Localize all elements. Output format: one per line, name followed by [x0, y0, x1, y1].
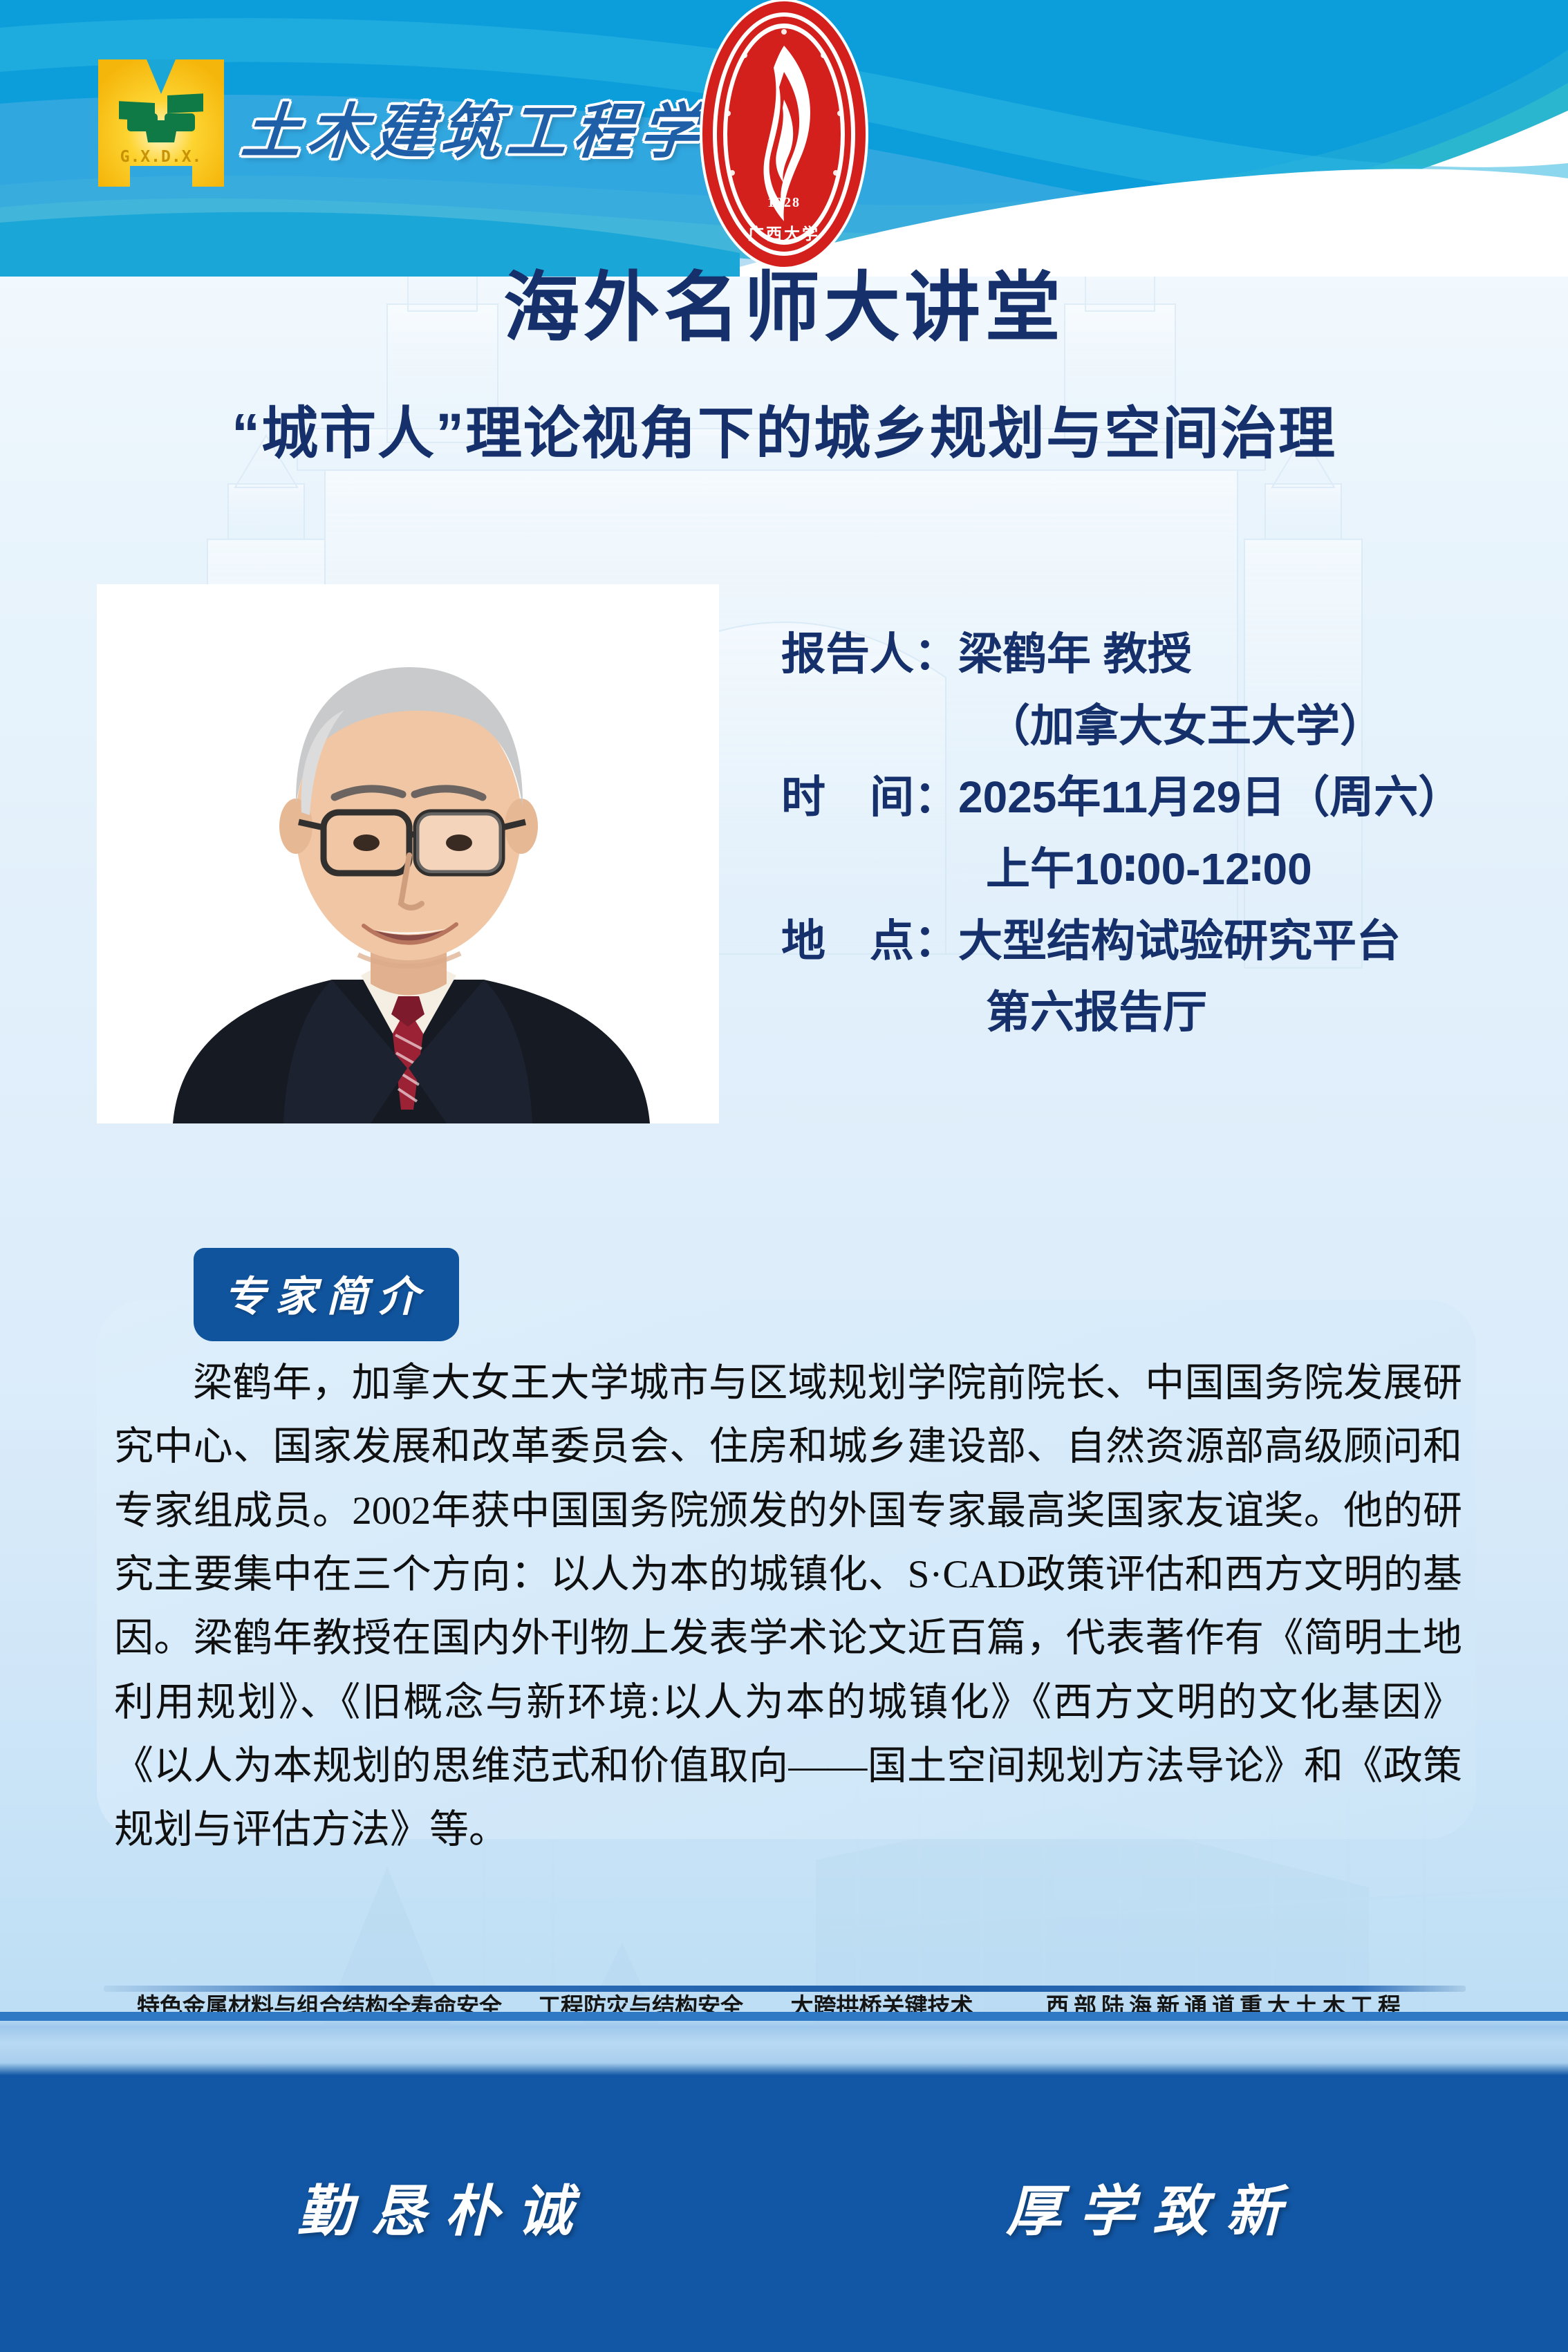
banner-gradient-strip [0, 2017, 1568, 2075]
page-subtitle: “城市人”理论视角下的城乡规划与空间治理 [0, 387, 1568, 469]
speaker-affiliation: （加拿大女王大学） [781, 691, 1556, 763]
detail-speaker-row: 报告人：梁鹤年 教授 [781, 619, 1556, 691]
time-value-secondary: 上午10∶00-12∶00 [781, 834, 1556, 906]
college-name: 土木建筑工程学院 [239, 83, 776, 169]
speaker-label: 报告人： [781, 619, 958, 691]
banner-accent-line [0, 2012, 1568, 2021]
poster-root: G.X.D.X. 土木建筑工程学院 海外名师大讲堂 “城市人”理论视角下的城乡规… [0, 0, 1568, 2352]
time-value: 2025年11月29日（周六） [958, 772, 1462, 822]
event-details: 报告人：梁鹤年 教授 （加拿大女王大学） 时 间：2025年11月29日（周六）… [781, 619, 1556, 1049]
venue-label: 地 点： [781, 906, 958, 978]
bio-text: 梁鹤年，加拿大女王大学城市与区域规划学院前院长、中国国务院发展研究中心、国家发展… [114, 1352, 1462, 1863]
speaker-name: 梁鹤年 教授 [958, 629, 1192, 679]
bottom-banner: 勤恳朴诚 厚学致新 [0, 2075, 1568, 2352]
bio-badge: 专家简介 [194, 1248, 459, 1341]
venue-value-secondary: 第六报告厅 [781, 977, 1556, 1049]
seal-year-text: 1928 [767, 195, 801, 210]
motto-left: 勤恳朴诚 [297, 2167, 590, 2247]
logo-abbrev-text: G.X.D.X. [120, 148, 203, 166]
gxdx-logo-icon: G.X.D.X. [88, 54, 234, 192]
gxdx-logo: G.X.D.X. [88, 54, 234, 192]
detail-time-row: 时 间：2025年11月29日（周六） [781, 762, 1556, 834]
venue-value: 大型结构试验研究平台 [958, 916, 1401, 966]
seal-name-text: 广西大学 [748, 225, 820, 243]
time-label: 时 间： [781, 762, 958, 834]
motto-right: 厚学致新 [1006, 2167, 1299, 2247]
detail-venue-row: 地 点：大型结构试验研究平台 [781, 906, 1556, 978]
university-seal-icon: 广西大学 1928 [696, 0, 872, 272]
speaker-portrait [97, 584, 719, 1123]
speaker-portrait-image [97, 584, 719, 1123]
